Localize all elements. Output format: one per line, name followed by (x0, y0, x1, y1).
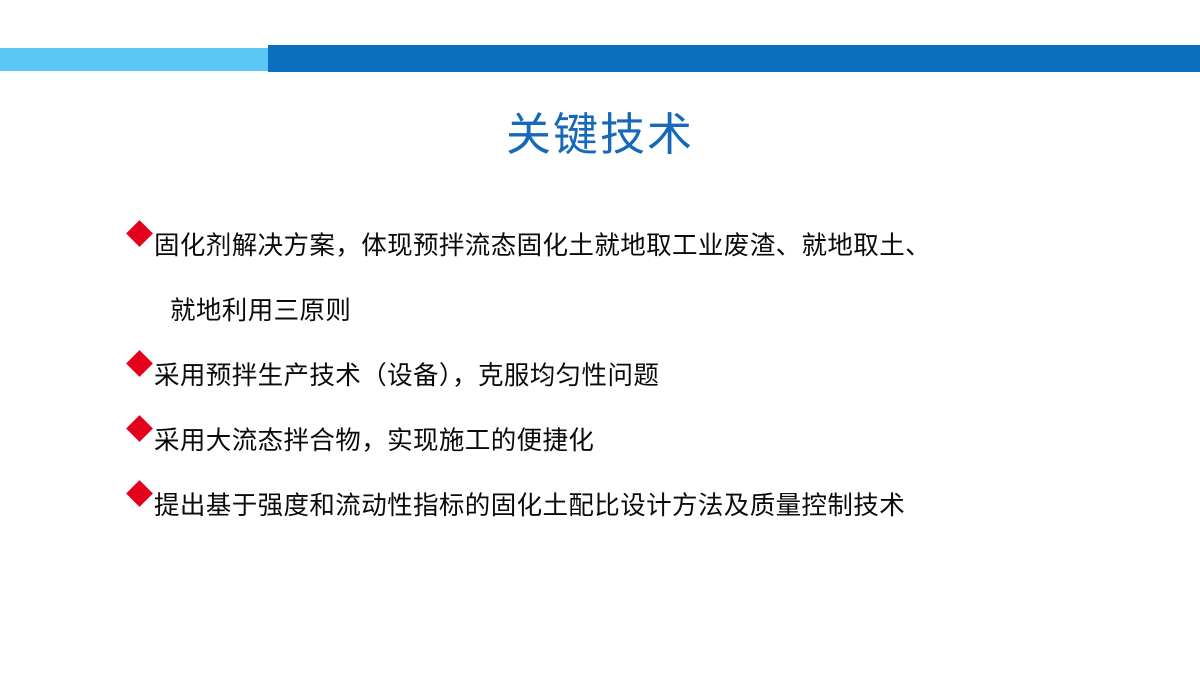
diamond-bullet-icon (126, 415, 153, 442)
diamond-bullet-icon (126, 220, 153, 247)
list-item: 提出基于强度和流动性指标的固化土配比设计方法及质量控制技术 (130, 473, 1150, 538)
list-item: 固化剂解决方案，体现预拌流态固化土就地取工业废渣、就地取土、就地利用三原则 (130, 213, 1150, 343)
header-accent-bar-dark (268, 45, 1200, 72)
list-item: 采用预拌生产技术（设备），克服均匀性问题 (130, 343, 1150, 408)
diamond-bullet-icon (126, 480, 153, 507)
bullet-text-4: 提出基于强度和流动性指标的固化土配比设计方法及质量控制技术 (154, 473, 1150, 538)
diamond-bullet-icon (126, 350, 153, 377)
bullet-line-1b: 就地利用三原则 (154, 278, 1150, 343)
list-item: 采用大流态拌合物，实现施工的便捷化 (130, 408, 1150, 473)
bullet-list: 固化剂解决方案，体现预拌流态固化土就地取工业废渣、就地取土、就地利用三原则 采用… (130, 213, 1150, 538)
header-accent-bar-light (0, 48, 270, 71)
bullet-text-2: 采用预拌生产技术（设备），克服均匀性问题 (154, 343, 1150, 408)
bullet-text-1: 固化剂解决方案，体现预拌流态固化土就地取工业废渣、就地取土、就地利用三原则 (154, 213, 1150, 343)
slide-canvas: 关键技术 固化剂解决方案，体现预拌流态固化土就地取工业废渣、就地取土、就地利用三… (0, 0, 1200, 675)
bullet-line-1a: 固化剂解决方案，体现预拌流态固化土就地取工业废渣、就地取土、 (154, 231, 931, 260)
bullet-text-3: 采用大流态拌合物，实现施工的便捷化 (154, 408, 1150, 473)
slide-title: 关键技术 (0, 107, 1200, 163)
